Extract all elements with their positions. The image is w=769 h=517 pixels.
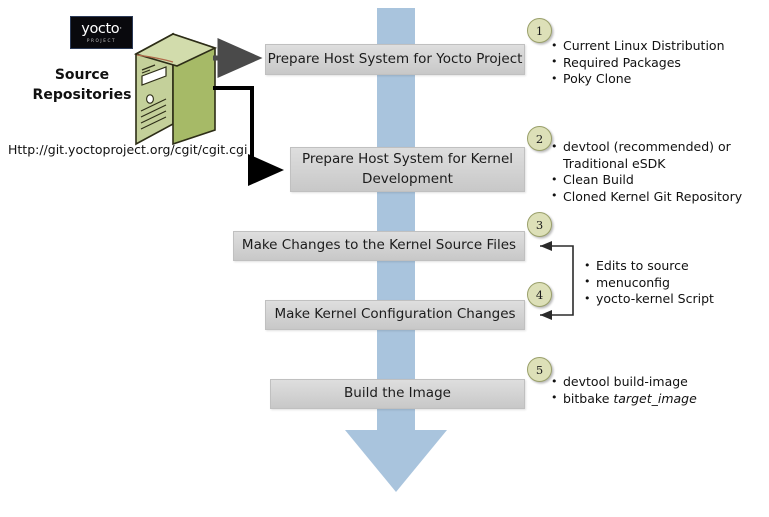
step-box-label: Make Kernel Configuration Changes xyxy=(274,305,515,325)
bullet-item: devtool (recommended) or xyxy=(551,139,742,156)
step-badge-number: 2 xyxy=(536,132,543,146)
bullet-text: devtool build-image xyxy=(563,374,688,389)
step-badge-3: 3 xyxy=(527,212,552,237)
source-repositories-label-line2: Repositories xyxy=(24,85,140,105)
step-badge-5: 5 xyxy=(527,357,552,382)
bullet-text: Required Packages xyxy=(563,55,681,70)
step-box-label-line1: Prepare Host System for Kernel xyxy=(302,151,513,167)
logo-wordmark: yocto· xyxy=(81,22,121,36)
step-badge-number: 1 xyxy=(536,24,543,38)
step-badge-number: 5 xyxy=(536,363,543,377)
bullet-text: Edits to source xyxy=(596,258,689,273)
step-5-bullet-list: devtool build-image bitbake target_image xyxy=(551,374,697,407)
logo-dot: · xyxy=(119,24,121,34)
steps-3-4-shared-bullet-list: Edits to source menuconfig yocto-kernel … xyxy=(584,258,714,308)
bullet-item-continuation: Traditional eSDK xyxy=(551,156,742,173)
step-box-label: Build the Image xyxy=(344,384,451,404)
bullet-item: yocto-kernel Script xyxy=(584,291,714,308)
bullet-item: Clean Build xyxy=(551,172,742,189)
bullet-text: Clean Build xyxy=(563,172,634,187)
step-box-prepare-host-kernel[interactable]: Prepare Host System for Kernel Developme… xyxy=(290,147,525,192)
bullet-text: bitbake xyxy=(563,391,613,406)
bullet-text: menuconfig xyxy=(596,275,670,290)
step-badge-4: 4 xyxy=(527,282,552,307)
step-box-label: Prepare Host System for Kernel Developme… xyxy=(302,150,513,189)
step-badge-number: 3 xyxy=(536,218,543,232)
bullet-item: menuconfig xyxy=(584,275,714,292)
arrowhead-into-step3 xyxy=(540,241,552,251)
step-box-build-the-image[interactable]: Build the Image xyxy=(270,379,525,409)
arrow-server-to-step2 xyxy=(213,88,278,170)
step-box-make-changes-kernel-source[interactable]: Make Changes to the Kernel Source Files xyxy=(233,231,525,261)
bullet-item: Cloned Kernel Git Repository xyxy=(551,189,742,206)
bullet-text: devtool (recommended) or xyxy=(563,139,731,154)
yocto-project-logo: yocto· PROJECT xyxy=(70,16,133,49)
source-repositories-label-line1: Source xyxy=(24,65,140,85)
step-badge-number: 4 xyxy=(536,288,543,302)
bullet-item: Required Packages xyxy=(551,55,725,72)
arrowhead-into-step4 xyxy=(540,310,552,320)
step-box-label: Make Changes to the Kernel Source Files xyxy=(242,236,516,256)
bullet-text: Poky Clone xyxy=(563,71,631,86)
step-badge-2: 2 xyxy=(527,126,552,151)
bullet-text: Cloned Kernel Git Repository xyxy=(563,189,742,204)
step-badge-1: 1 xyxy=(527,18,552,43)
logo-wordmark-text: yocto xyxy=(81,21,119,37)
step-box-make-kernel-config-changes[interactable]: Make Kernel Configuration Changes xyxy=(265,300,525,330)
bullet-text-italic: target_image xyxy=(613,391,696,406)
source-repositories-label: Source Repositories xyxy=(24,65,140,105)
bullet-item: Poky Clone xyxy=(551,71,725,88)
flow-spine-arrowhead xyxy=(345,430,447,492)
step-box-label-line2: Development xyxy=(362,171,453,187)
bullet-item: Current Linux Distribution xyxy=(551,38,725,55)
bullet-item: devtool build-image xyxy=(551,374,697,391)
step-1-bullet-list: Current Linux Distribution Required Pack… xyxy=(551,38,725,88)
step-box-label: Prepare Host System for Yocto Project xyxy=(268,50,523,70)
step-2-bullet-list: devtool (recommended) or Traditional eSD… xyxy=(551,139,742,205)
server-icon xyxy=(133,26,218,148)
logo-subtitle: PROJECT xyxy=(87,38,116,43)
bullet-item: Edits to source xyxy=(584,258,714,275)
step-box-prepare-host-yocto[interactable]: Prepare Host System for Yocto Project xyxy=(265,44,525,75)
bullet-text: Current Linux Distribution xyxy=(563,38,725,53)
bullet-item: bitbake target_image xyxy=(551,391,697,408)
bullet-text: Traditional eSDK xyxy=(563,156,666,171)
bullet-text: yocto-kernel Script xyxy=(596,291,714,306)
workflow-diagram: yocto· PROJECT Source Repositories Http:… xyxy=(0,0,769,517)
